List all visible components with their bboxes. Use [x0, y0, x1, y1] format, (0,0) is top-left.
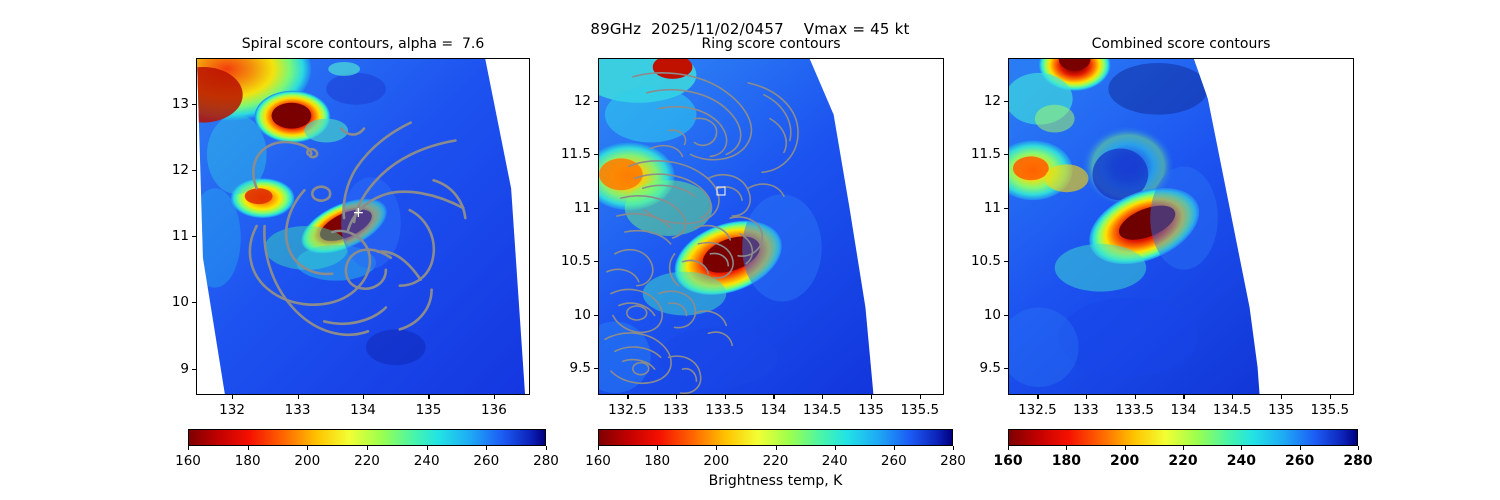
ring-xticklabel-1340: 134	[761, 402, 787, 418]
spiral-yticklabel-10: 10	[172, 294, 189, 310]
spiral-xticklabel-134: 134	[350, 402, 376, 418]
ring-ytick-120	[594, 101, 598, 102]
combined-xticklabel-1325: 132.5	[1018, 402, 1057, 418]
colorbar-left-label-260: 260	[473, 453, 499, 469]
ring-yticklabel-100: 10	[574, 307, 591, 323]
ring-xtick-1350	[871, 395, 872, 399]
colorbar-right-label-180: 180	[1052, 453, 1081, 469]
ring-brightness-temp-raster	[599, 59, 943, 394]
colorbar-right-label-200: 200	[1110, 453, 1139, 469]
colorbar-right-tick-240	[1241, 446, 1242, 450]
ring-yticklabel-120: 12	[574, 93, 591, 109]
spiral-xtick-136	[494, 395, 495, 399]
spiral-xticklabel-133: 133	[285, 402, 311, 418]
combined-xticklabel-1335: 133.5	[1115, 402, 1154, 418]
combined-xtick-1330	[1086, 395, 1087, 399]
combined-yticklabel-120: 12	[984, 93, 1001, 109]
spiral-xticklabel-135: 135	[416, 402, 442, 418]
colorbar-right-gradient	[1008, 429, 1358, 446]
storm-center-marker-plus: +	[352, 206, 364, 220]
colorbar-left-tick-200	[307, 446, 308, 450]
ring-ytick-95	[594, 368, 598, 369]
combined-xticklabel-1330: 133	[1073, 402, 1099, 418]
colorbar-middle-label-180: 180	[644, 453, 670, 469]
colorbar-left-label-240: 240	[414, 453, 440, 469]
colorbar-right-tick-160	[1008, 446, 1009, 450]
colorbar-right-label-260: 260	[1285, 453, 1314, 469]
colorbar-middle-gradient	[598, 429, 953, 446]
ring-xticklabel-1335: 133.5	[705, 402, 744, 418]
colorbar-left-tick-280	[546, 446, 547, 450]
spiral-ytick-12	[192, 170, 196, 171]
combined-xtick-1345	[1232, 395, 1233, 399]
ring-xtick-1330	[676, 395, 677, 399]
combined-ytick-120	[1004, 101, 1008, 102]
ring-xtick-1335	[725, 395, 726, 399]
storm-center-marker-square	[717, 187, 726, 196]
combined-yticklabel-115: 11.5	[971, 146, 1001, 162]
colorbar-right-tick-220	[1183, 446, 1184, 450]
colorbar-middle-tick-260	[894, 446, 895, 450]
ring-ytick-105	[594, 261, 598, 262]
combined-brightness-temp-raster	[1009, 59, 1353, 394]
colorbar-middle-label-200: 200	[703, 453, 729, 469]
combined-yticklabel-95: 9.5	[980, 360, 1001, 376]
colorbar-right-label-280: 280	[1343, 453, 1372, 469]
colorbar-right-tick-260	[1300, 446, 1301, 450]
spiral-ytick-9	[192, 369, 196, 370]
combined-xticklabel-1345: 134.5	[1213, 402, 1252, 418]
combined-yticklabel-110: 11	[984, 200, 1001, 216]
colorbar-middle-tick-280	[953, 446, 954, 450]
ring-xtick-1345	[822, 395, 823, 399]
colorbar-left[interactable]: 160 180 200 220 240 260 280	[188, 429, 546, 446]
colorbar-left-tick-180	[248, 446, 249, 450]
colorbar-left-label-220: 220	[354, 453, 380, 469]
ring-xtick-1355	[920, 395, 921, 399]
combined-xtick-1335	[1135, 395, 1136, 399]
combined-ytick-115	[1004, 154, 1008, 155]
colorbar-left-label-160: 160	[175, 453, 201, 469]
colorbar-right[interactable]: 160 180 200 220 240 260 280	[1008, 429, 1358, 446]
colorbar-left-gradient	[188, 429, 546, 446]
colorbar-right-label-160: 160	[993, 453, 1022, 469]
colorbar-middle-label-240: 240	[822, 453, 848, 469]
spiral-yticklabel-11: 11	[172, 228, 189, 244]
colorbar-middle-label-220: 220	[763, 453, 789, 469]
colorbar-middle-label-280: 280	[940, 453, 966, 469]
ring-yticklabel-115: 11.5	[561, 146, 591, 162]
panel-ring-axes[interactable]	[598, 58, 944, 395]
colorbar-middle-tick-240	[835, 446, 836, 450]
combined-xticklabel-1355: 135.5	[1310, 402, 1349, 418]
spiral-ytick-11	[192, 236, 196, 237]
colorbar-left-label-200: 200	[294, 453, 320, 469]
spiral-xtick-133	[298, 395, 299, 399]
spiral-ytick-10	[192, 302, 196, 303]
spiral-yticklabel-9: 9	[180, 361, 189, 377]
combined-xtick-1340	[1183, 395, 1184, 399]
combined-xticklabel-1350: 135	[1268, 402, 1294, 418]
ring-yticklabel-105: 10.5	[561, 253, 591, 269]
combined-ytick-100	[1004, 315, 1008, 316]
colorbar-left-tick-260	[486, 446, 487, 450]
colorbar-left-tick-220	[367, 446, 368, 450]
colorbar-middle-label-160: 160	[585, 453, 611, 469]
panel-ring-score: Ring score contours	[598, 58, 944, 395]
spiral-yticklabel-13: 13	[172, 96, 189, 112]
ring-xticklabel-1345: 134.5	[803, 402, 842, 418]
colorbar-right-tick-180	[1066, 446, 1067, 450]
combined-xtick-1355	[1330, 395, 1331, 399]
spiral-xtick-135	[428, 395, 429, 399]
panel-ring-title: Ring score contours	[598, 36, 944, 52]
colorbar-right-label-220: 220	[1168, 453, 1197, 469]
panel-spiral-score: Spiral score contours, alpha = 7.6	[196, 58, 530, 395]
panel-combined-axes[interactable]	[1008, 58, 1354, 395]
spiral-ytick-13	[192, 104, 196, 105]
colorbar-left-label-180: 180	[235, 453, 261, 469]
combined-yticklabel-100: 10	[984, 307, 1001, 323]
combined-xtick-1325	[1037, 395, 1038, 399]
colorbar-right-tick-280	[1358, 446, 1359, 450]
colorbar-left-tick-160	[188, 446, 189, 450]
panel-combined-score: Combined score contours	[1008, 58, 1354, 395]
spiral-xtick-132	[232, 395, 233, 399]
colorbar-middle-tick-200	[716, 446, 717, 450]
colorbar-right-label-240: 240	[1227, 453, 1256, 469]
spiral-yticklabel-12: 12	[172, 162, 189, 178]
colorbar-axis-label: Brightness temp, K	[598, 473, 953, 489]
colorbar-left-tick-240	[427, 446, 428, 450]
combined-xtick-1350	[1281, 395, 1282, 399]
colorbar-left-label-280: 280	[533, 453, 559, 469]
figure-canvas: 89GHz 2025/11/02/0457 Vmax = 45 kt Spira…	[0, 0, 1500, 500]
ring-xtick-1340	[773, 395, 774, 399]
combined-ytick-95	[1004, 368, 1008, 369]
panel-spiral-title: Spiral score contours, alpha = 7.6	[196, 36, 530, 52]
colorbar-middle-label-260: 260	[881, 453, 907, 469]
combined-yticklabel-105: 10.5	[971, 253, 1001, 269]
colorbar-right-tick-200	[1125, 446, 1126, 450]
panel-combined-title: Combined score contours	[1008, 36, 1354, 52]
ring-yticklabel-95: 9.5	[570, 360, 591, 376]
spiral-xticklabel-136: 136	[481, 402, 507, 418]
ring-yticklabel-110: 11	[574, 200, 591, 216]
spiral-xtick-134	[363, 395, 364, 399]
ring-xticklabel-1350: 135	[858, 402, 884, 418]
ring-xtick-1325	[627, 395, 628, 399]
colorbar-middle[interactable]: 160 180 200 220 240 260 280 Brightness t…	[598, 429, 953, 446]
ring-xticklabel-1355: 135.5	[900, 402, 939, 418]
ring-xticklabel-1325: 132.5	[608, 402, 647, 418]
colorbar-middle-tick-180	[657, 446, 658, 450]
ring-ytick-110	[594, 208, 598, 209]
ring-ytick-115	[594, 154, 598, 155]
combined-ytick-110	[1004, 208, 1008, 209]
panel-spiral-axes[interactable]: +	[196, 58, 530, 395]
combined-xticklabel-1340: 134	[1171, 402, 1197, 418]
colorbar-middle-tick-220	[776, 446, 777, 450]
colorbar-middle-tick-160	[598, 446, 599, 450]
spiral-xticklabel-132: 132	[219, 402, 245, 418]
ring-ytick-100	[594, 315, 598, 316]
combined-ytick-105	[1004, 261, 1008, 262]
ring-xticklabel-1330: 133	[663, 402, 689, 418]
spiral-brightness-temp-raster	[197, 59, 529, 394]
